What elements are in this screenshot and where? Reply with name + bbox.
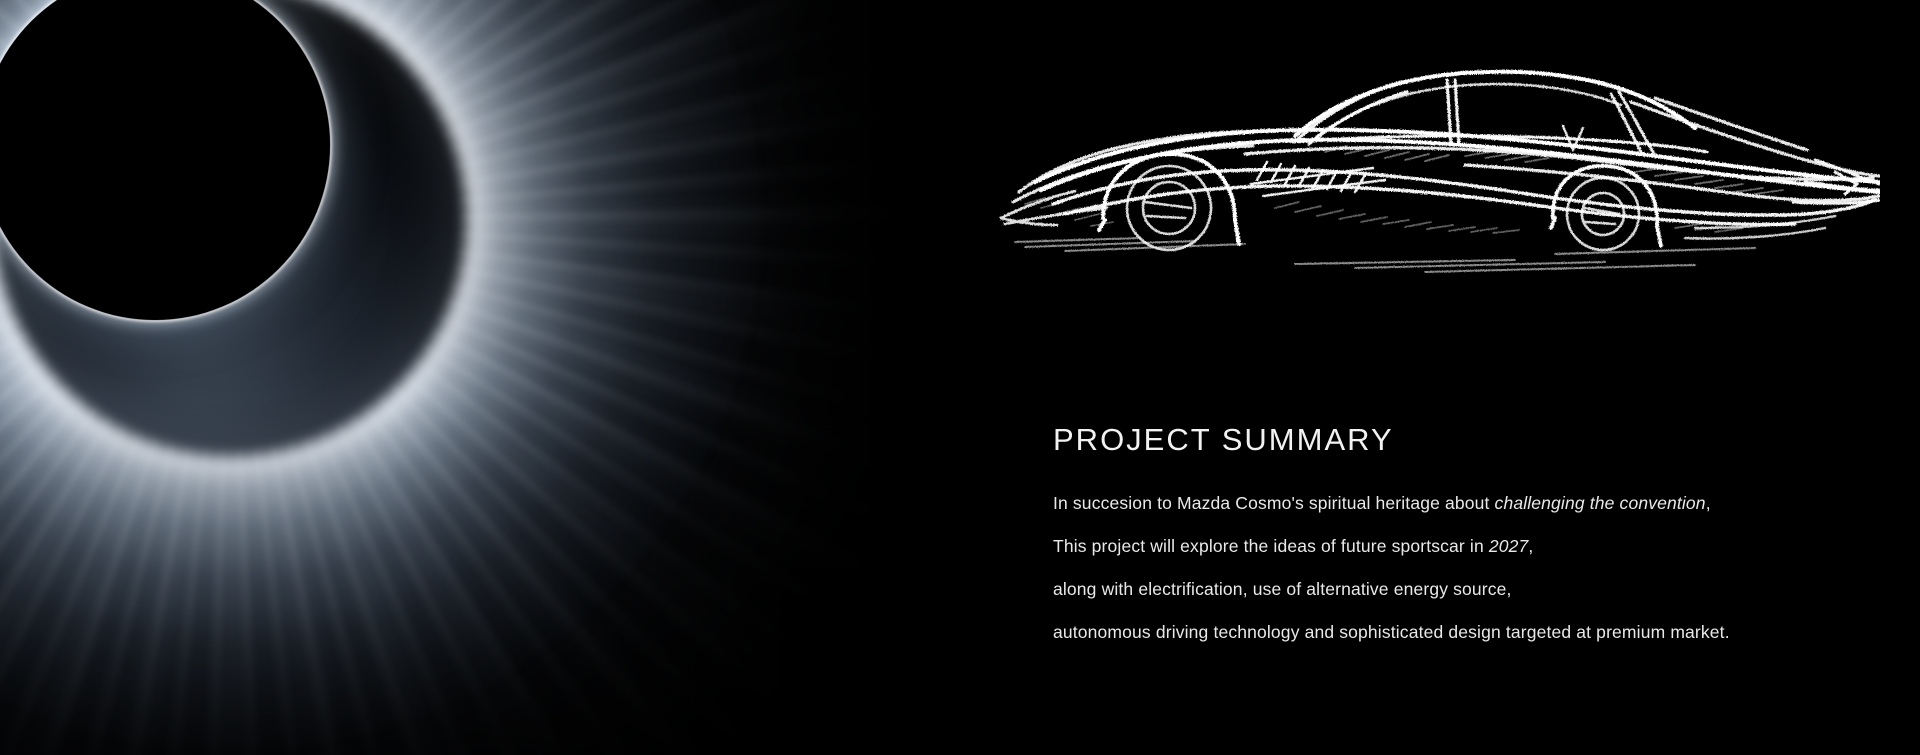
summary-line-4-text: autonomous driving technology and sophis… xyxy=(1053,622,1730,642)
summary-line-4: autonomous driving technology and sophis… xyxy=(1053,624,1873,642)
car-sketch-svg xyxy=(995,32,1880,302)
summary-line-1-tail: , xyxy=(1706,493,1711,513)
car-concept-sketch xyxy=(995,32,1880,302)
summary-line-3-text: along with electrification, use of alter… xyxy=(1053,579,1512,599)
slide-root: PROJECT SUMMARY In succesion to Mazda Co… xyxy=(0,0,1920,755)
summary-line-2: This project will explore the ideas of f… xyxy=(1053,538,1873,556)
summary-line-1: In succesion to Mazda Cosmo's spiritual … xyxy=(1053,495,1873,513)
summary-line-3: along with electrification, use of alter… xyxy=(1053,581,1873,599)
solar-eclipse-photo xyxy=(0,0,980,755)
summary-line-1-text: In succesion to Mazda Cosmo's spiritual … xyxy=(1053,493,1495,513)
summary-line-1-emphasis: challenging the convention xyxy=(1495,493,1706,513)
photo-seam-fade xyxy=(760,0,980,755)
project-summary-block: PROJECT SUMMARY In succesion to Mazda Co… xyxy=(1053,424,1873,642)
summary-line-2-text: This project will explore the ideas of f… xyxy=(1053,536,1489,556)
page-title: PROJECT SUMMARY xyxy=(1053,424,1873,455)
sketch-strokes xyxy=(1001,72,1879,272)
summary-line-2-tail: , xyxy=(1528,536,1533,556)
summary-line-2-emphasis: 2027 xyxy=(1489,536,1529,556)
